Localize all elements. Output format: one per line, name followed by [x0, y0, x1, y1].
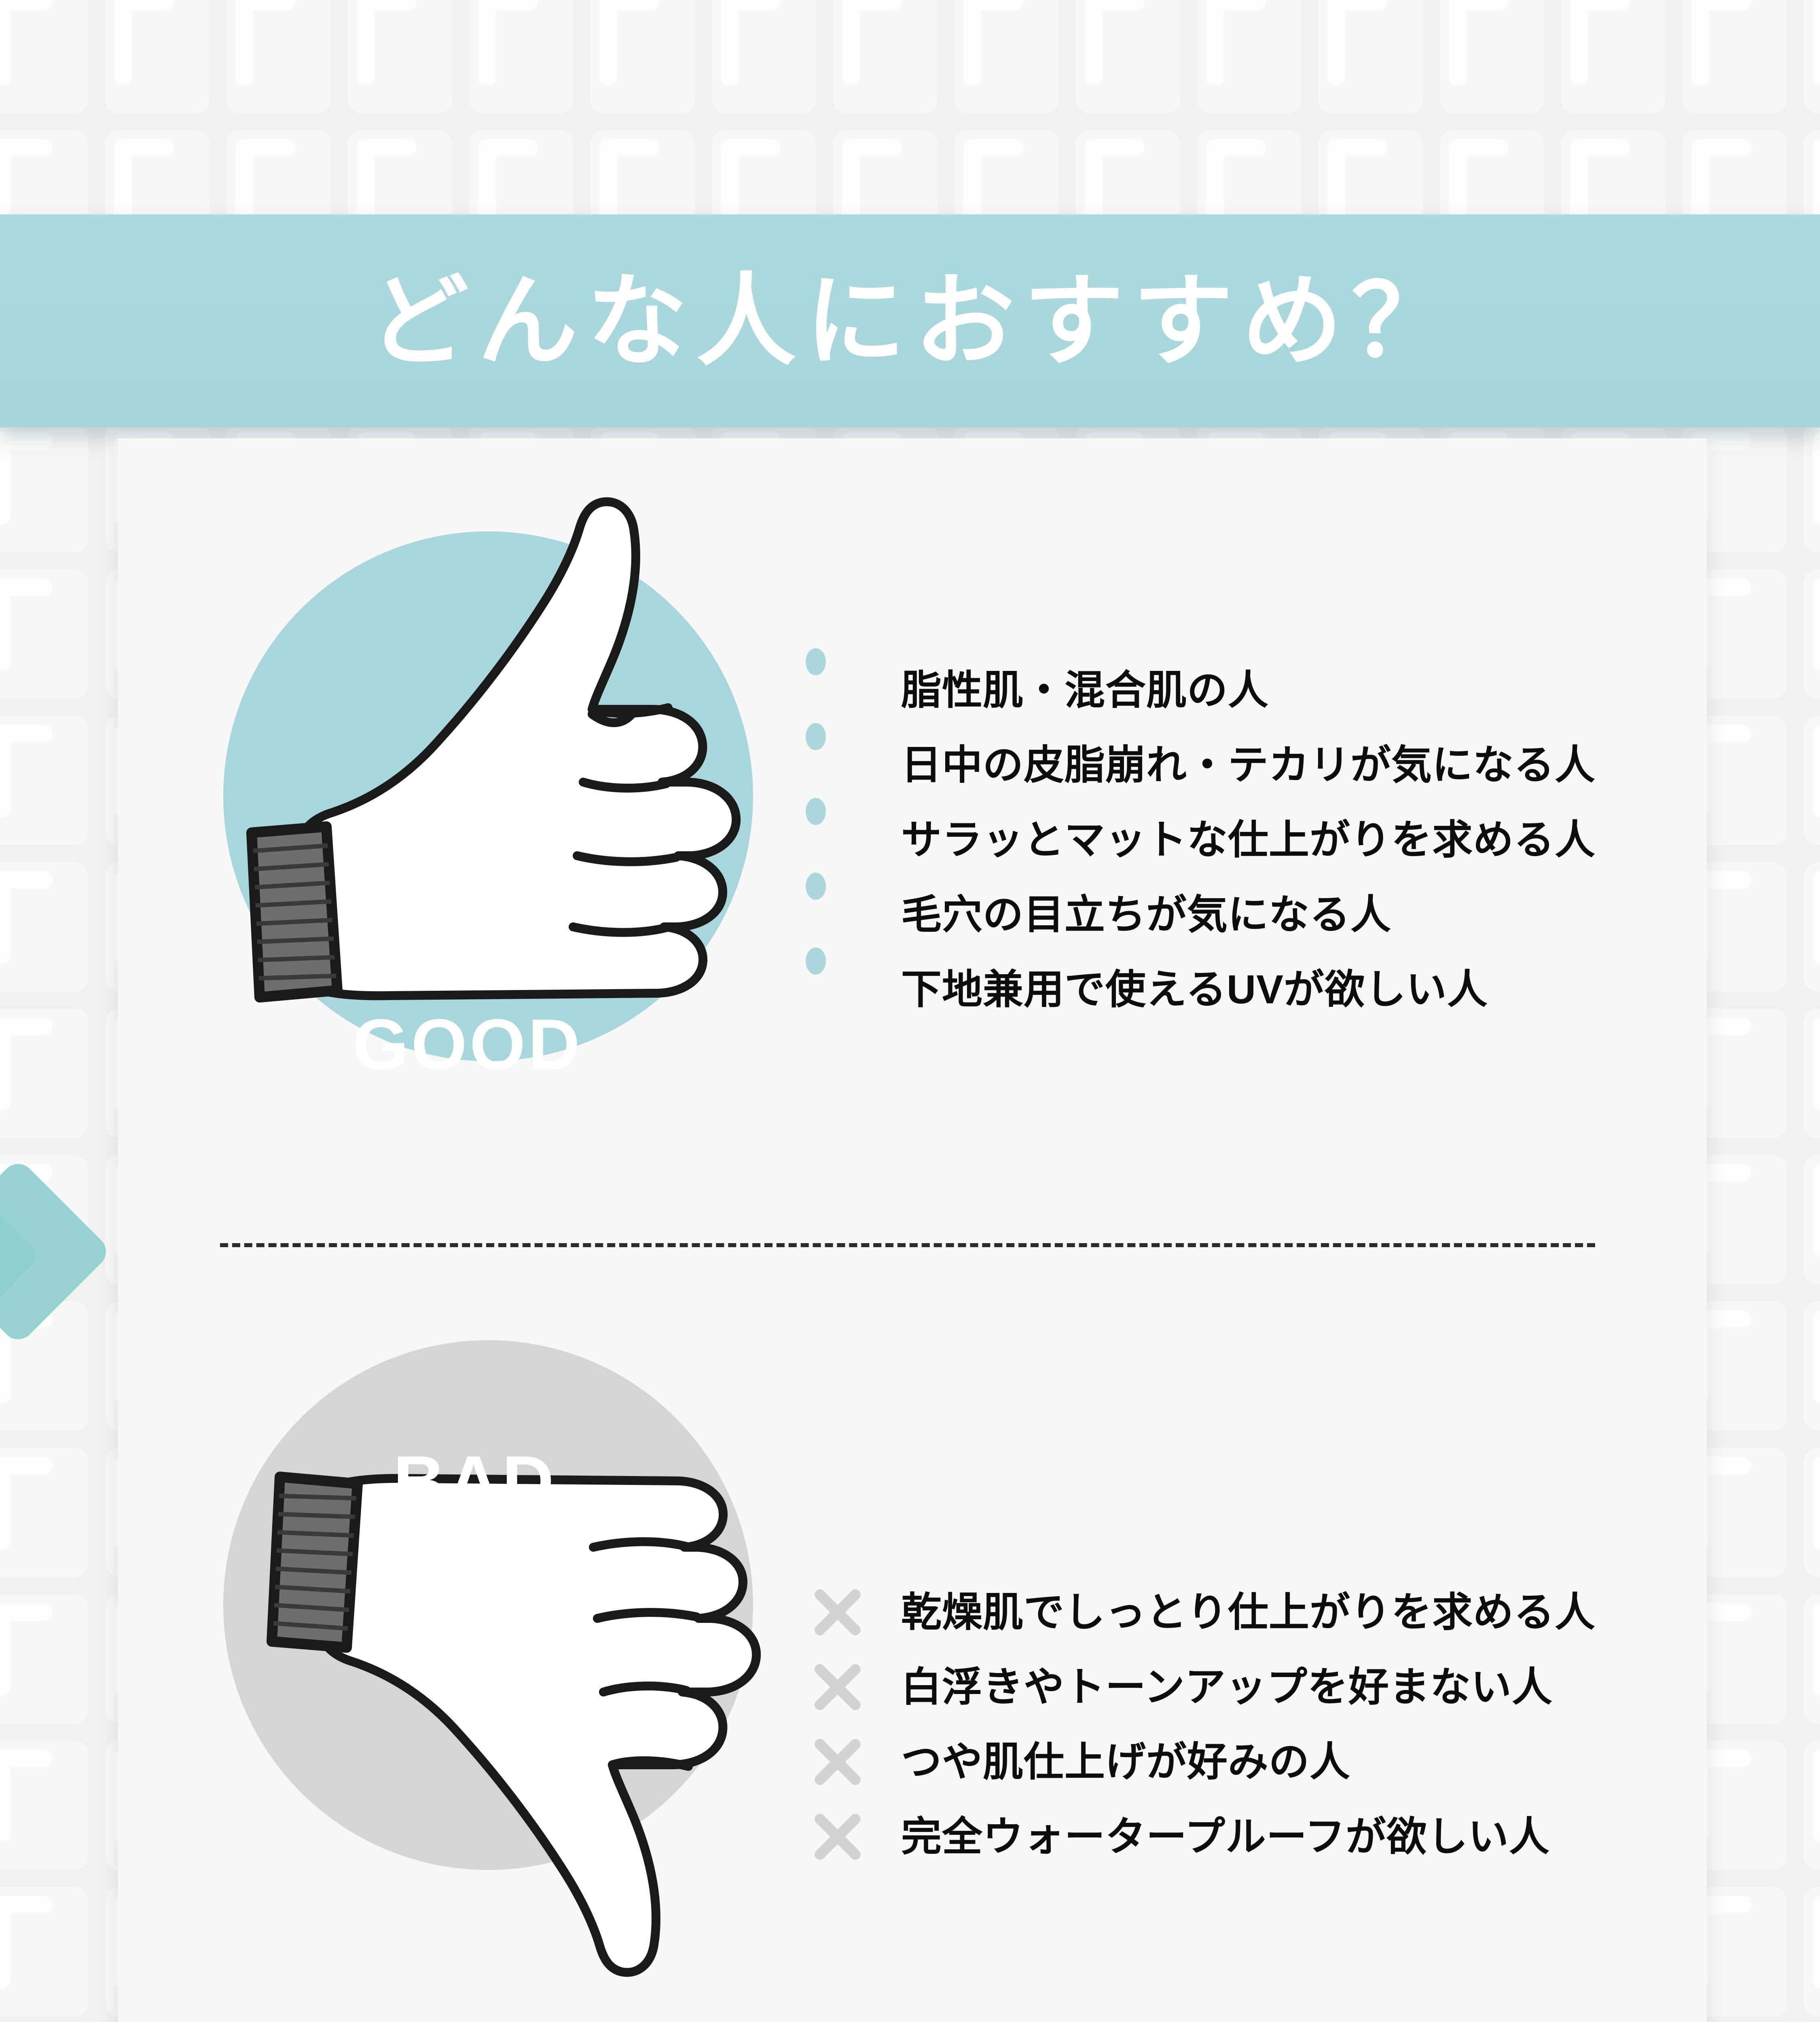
- circle-outline-icon: [806, 733, 870, 797]
- list-item-label: 完全ウォータープルーフが欲しい人: [901, 1817, 1550, 1857]
- thumbs-up-illustration: GOOD: [223, 531, 753, 1061]
- list-item: 毛穴の目立ちが気になる人: [806, 877, 1596, 952]
- background-tile: [1076, 0, 1180, 113]
- background-tile: [0, 716, 88, 845]
- background-tile: [712, 0, 816, 113]
- background-tile: [1804, 1155, 1820, 1284]
- background-tile: [1804, 1741, 1820, 1870]
- good-badge-label: GOOD: [353, 1009, 582, 1081]
- background-tile: [105, 0, 210, 113]
- list-item-label: 毛穴の目立ちが気になる人: [901, 895, 1391, 935]
- bad-badge-label: BAD: [393, 1445, 557, 1517]
- list-item: 白浮きやトーンアップを好まない人: [806, 1650, 1596, 1724]
- page-title: どんな人におすすめ？: [360, 271, 1460, 371]
- background-tile: [1804, 716, 1820, 845]
- circle-outline-icon: [806, 808, 870, 872]
- background-tile: [1197, 0, 1302, 113]
- background-tile: [348, 0, 452, 113]
- background-tile: [0, 423, 88, 552]
- background-tile: [833, 0, 938, 113]
- thumbs-down-illustration: BAD: [223, 1340, 753, 1870]
- header-banner: どんな人におすすめ？: [0, 214, 1820, 427]
- background-tile: [0, 569, 88, 699]
- list-item: 日中の皮脂崩れ・テカリが気になる人: [806, 728, 1596, 802]
- background-tile: [954, 0, 1059, 113]
- background-tile: [0, 862, 88, 992]
- bad-section: BAD 乾燥肌でしっとり仕上がりを求める人 白浮きやトーンアップを好まない人 つ…: [118, 1328, 1707, 1959]
- background-tile: [1804, 1301, 1820, 1431]
- list-item-label: 白浮きやトーンアップを好まない人: [901, 1667, 1553, 1707]
- background-tile: [590, 0, 695, 113]
- good-section: GOOD 脂性肌・混合肌の人 日中の皮脂崩れ・テカリが気になる人 サラッとマット…: [118, 455, 1707, 1158]
- list-item-label: サラッとマットな仕上がりを求める人: [901, 820, 1596, 860]
- list-item: つや肌仕上げが好みの人: [806, 1724, 1596, 1799]
- background-tile: [0, 1741, 88, 1870]
- cross-mark-icon: [806, 1730, 870, 1794]
- background-tile: [1318, 0, 1423, 113]
- infographic-page: どんな人におすすめ？: [0, 0, 1820, 2022]
- good-items-list: 脂性肌・混合肌の人 日中の皮脂崩れ・テカリが気になる人 サラッとマットな仕上がり…: [806, 653, 1596, 1027]
- list-item: 完全ウォータープルーフが欲しい人: [806, 1799, 1596, 1874]
- background-tile: [1804, 1448, 1820, 1577]
- background-tile: [0, 1594, 88, 1724]
- background-tile: [1561, 0, 1666, 113]
- background-tile: [1804, 862, 1820, 992]
- list-item: 下地兼用で使えるUVが欲しい人: [806, 952, 1596, 1027]
- background-tile: [0, 1009, 88, 1138]
- background-tile: [1804, 569, 1820, 699]
- list-item-label: 下地兼用で使えるUVが欲しい人: [901, 969, 1488, 1010]
- cross-mark-icon: [806, 1655, 870, 1719]
- background-tile: [0, 1448, 88, 1577]
- list-item-label: 脂性肌・混合肌の人: [901, 670, 1269, 711]
- background-tile: [0, 0, 88, 113]
- circle-outline-icon: [806, 658, 870, 722]
- list-item-label: つや肌仕上げが好みの人: [901, 1742, 1350, 1782]
- circle-outline-icon: [806, 883, 870, 947]
- list-item: 脂性肌・混合肌の人: [806, 653, 1596, 728]
- bad-items-list: 乾燥肌でしっとり仕上がりを求める人 白浮きやトーンアップを好まない人 つや肌仕上…: [806, 1575, 1596, 1874]
- thumbs-down-icon: [199, 1316, 822, 2003]
- cross-mark-icon: [806, 1580, 870, 1644]
- background-tile: [226, 0, 331, 113]
- list-item-label: 日中の皮脂崩れ・テカリが気になる人: [901, 745, 1596, 785]
- cross-mark-icon: [806, 1805, 870, 1869]
- background-tile: [1804, 1887, 1820, 2016]
- list-item: サラッとマットな仕上がりを求める人: [806, 802, 1596, 877]
- background-tile: [1804, 1009, 1820, 1138]
- background-tile: [1804, 1594, 1820, 1724]
- circle-outline-icon: [806, 958, 870, 1022]
- section-divider: [220, 1243, 1595, 1247]
- background-tile: [469, 0, 574, 113]
- content-card: GOOD 脂性肌・混合肌の人 日中の皮脂崩れ・テカリが気になる人 サラッとマット…: [118, 438, 1707, 2022]
- background-tile: [1682, 0, 1787, 113]
- background-tile: [0, 1887, 88, 2016]
- background-tile: [1804, 423, 1820, 552]
- background-tile: [1804, 0, 1820, 113]
- list-item: 乾燥肌でしっとり仕上がりを求める人: [806, 1575, 1596, 1650]
- background-tile: [1440, 0, 1544, 113]
- list-item-label: 乾燥肌でしっとり仕上がりを求める人: [901, 1592, 1596, 1633]
